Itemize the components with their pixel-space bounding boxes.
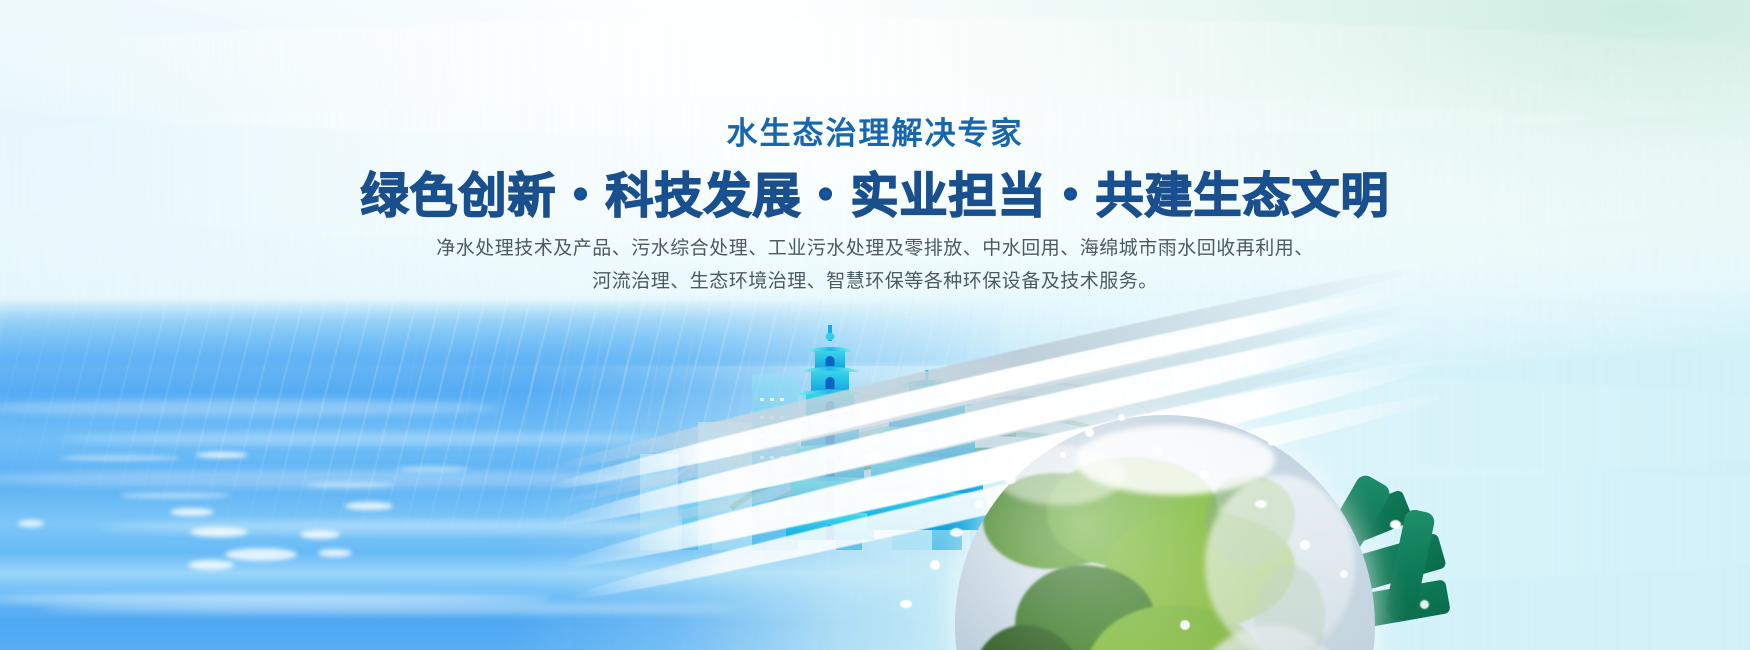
banner-eyebrow: 水生态治理解决专家 bbox=[0, 108, 1750, 153]
hero-banner: 水生态治理解决专家 绿色创新・科技发展・实业担当・共建生态文明 净水处理技术及产… bbox=[0, 0, 1750, 650]
banner-description-line-1: 净水处理技术及产品、污水综合处理、工业污水处理及零排放、中水回用、海绵城市雨水回… bbox=[0, 233, 1750, 260]
banner-headline: 绿色创新・科技发展・实业担当・共建生态文明 bbox=[0, 156, 1750, 226]
banner-description-line-2: 河流治理、生态环境治理、智慧环保等各种环保设备及技术服务。 bbox=[0, 266, 1750, 293]
